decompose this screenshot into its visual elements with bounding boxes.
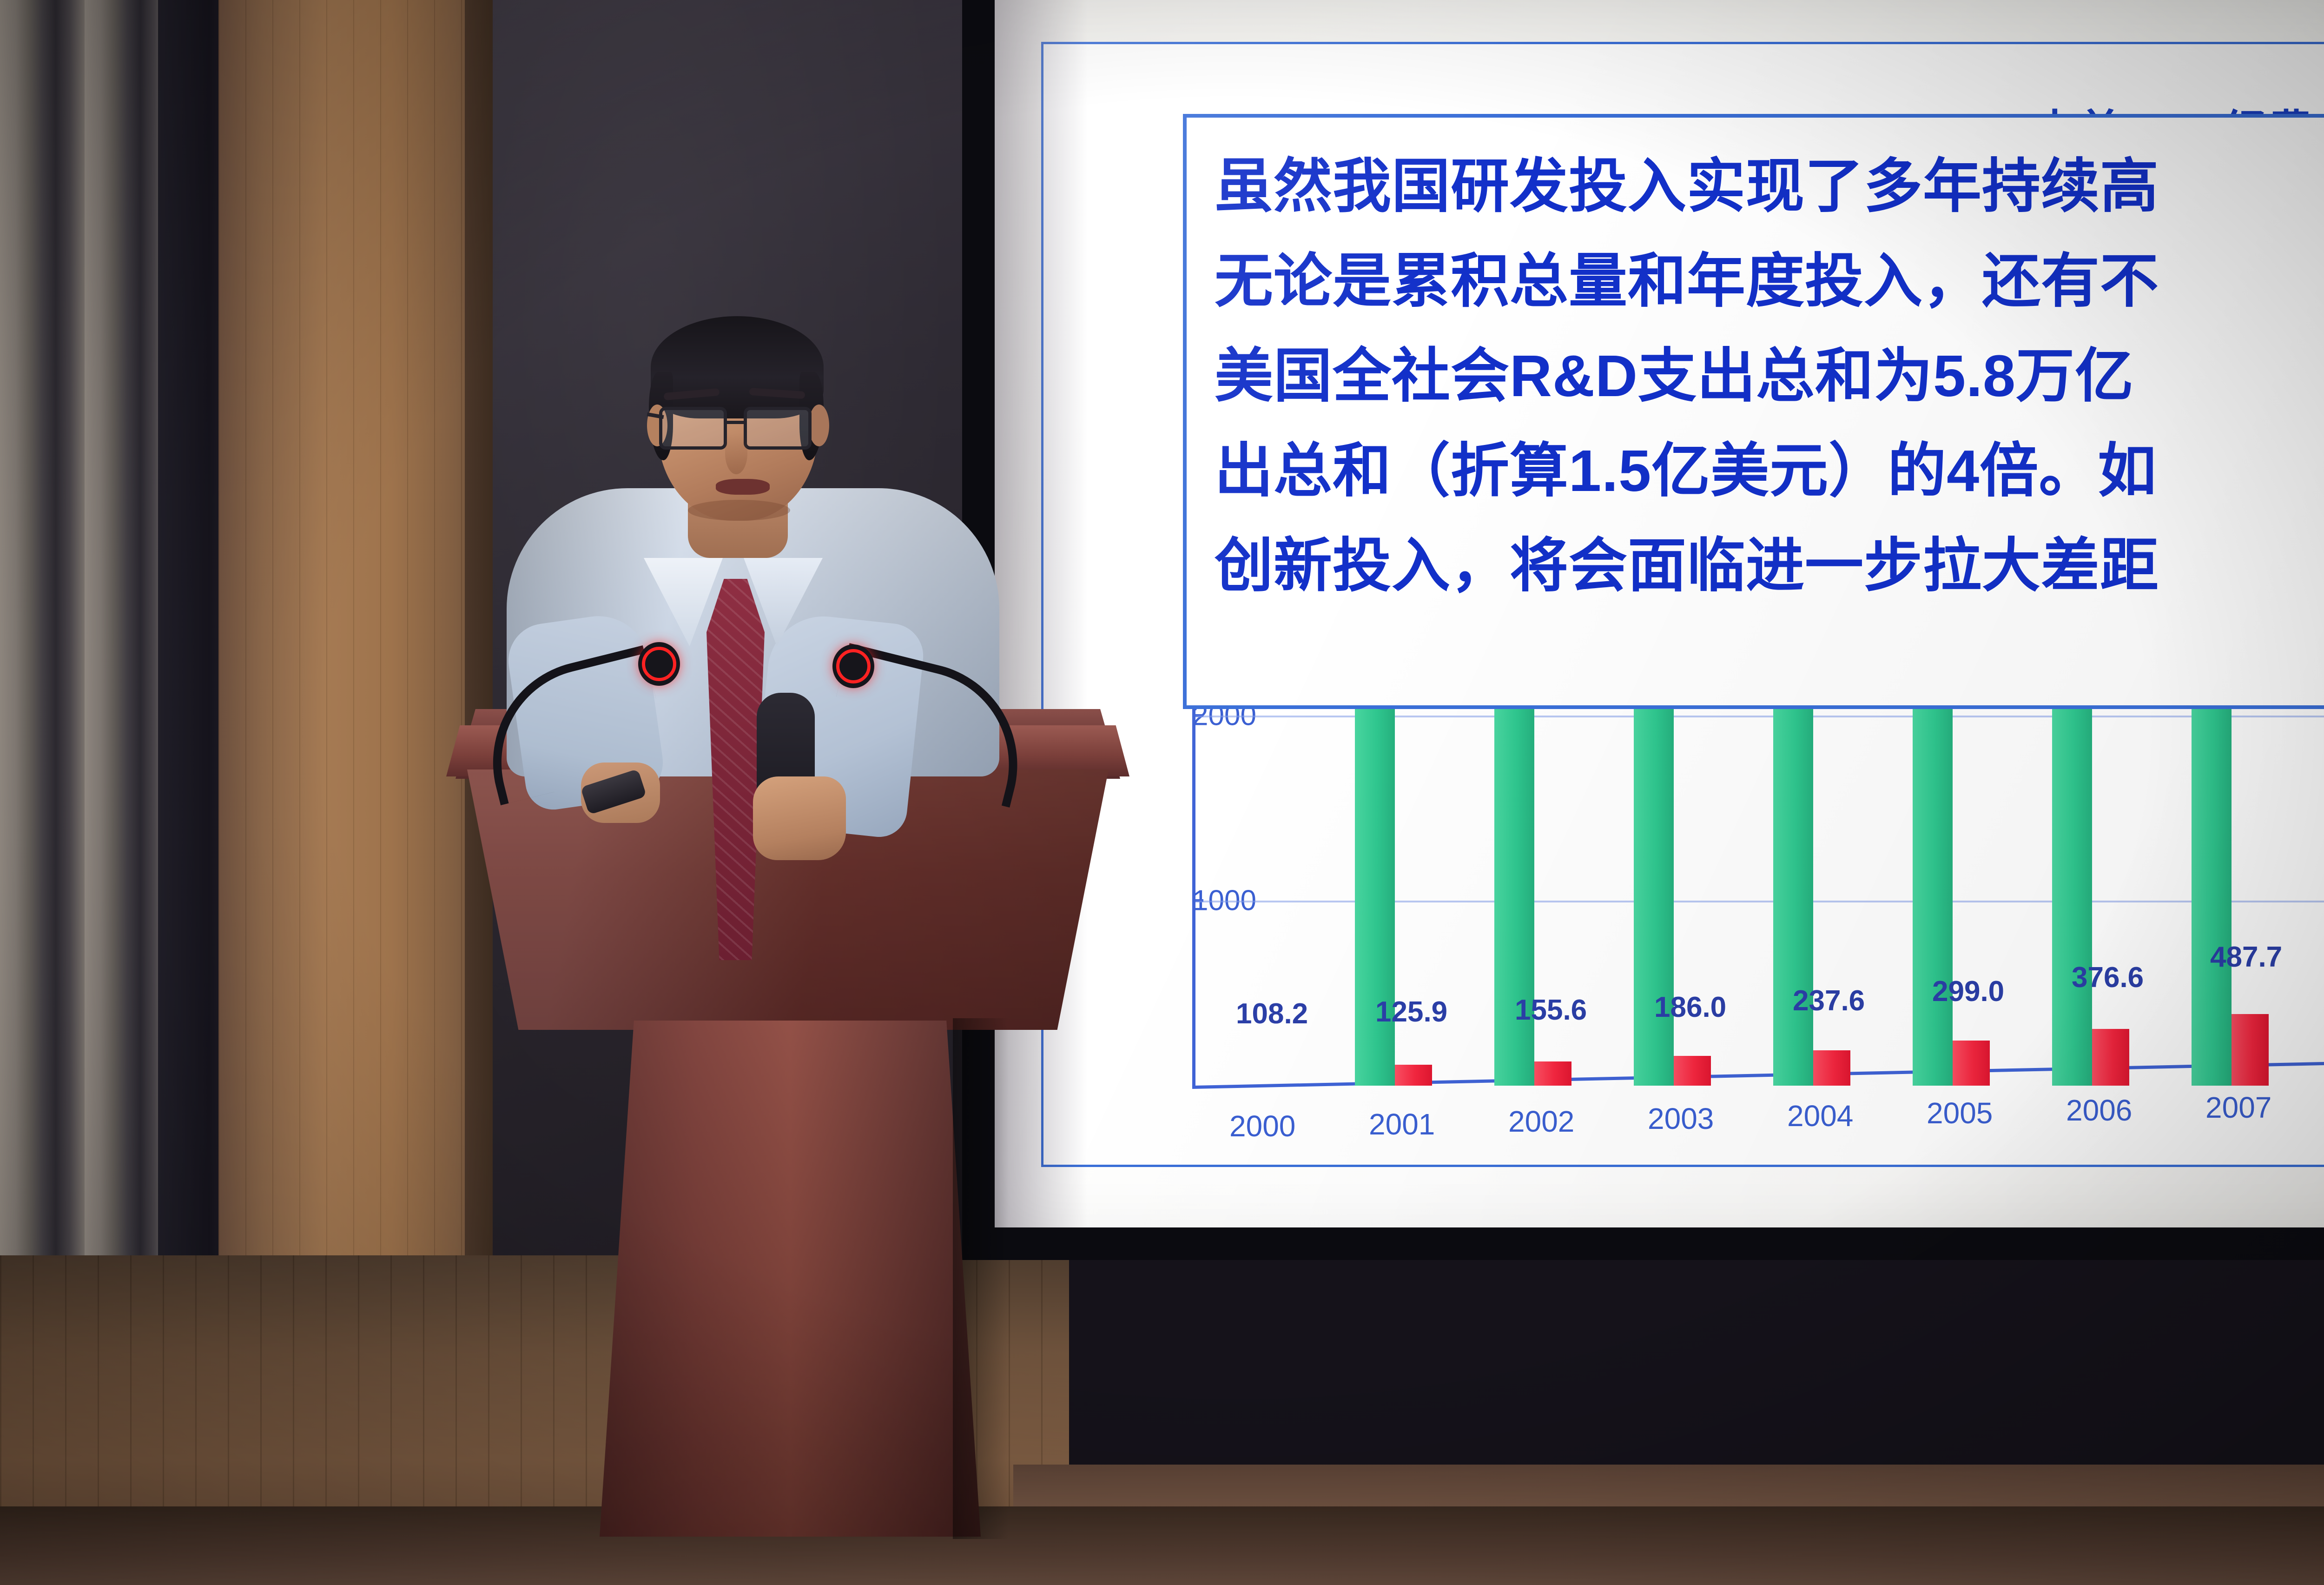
slide-text-callout: 虽然我国研发投入实现了多年持续高 无论是累积总量和年度投入，还有不 美国全社会R…: [1183, 114, 2324, 709]
podium-column: [600, 1021, 981, 1537]
callout-line-1: 虽然我国研发投入实现了多年持续高: [1215, 139, 2324, 234]
powerpoint-slide: 中美R&D经费支出 5000 4000 3000 2000 1000: [1041, 42, 2324, 1167]
microphone-icon-left: [642, 646, 676, 682]
speaker-hair: [651, 316, 824, 418]
stage-floor: [0, 1506, 2324, 1585]
callout-line-5: 创新投入，将会面临进一步拉大差距: [1215, 518, 2324, 613]
x-label-2002: 2002: [1508, 1104, 1574, 1139]
data-label-2006: 376.6: [2072, 961, 2144, 1167]
x-label-2001: 2001: [1369, 1107, 1435, 1141]
x-label-2000: 2000: [1229, 1109, 1295, 1143]
microphone-icon-right: [837, 649, 870, 684]
slide-progress-marker: [1098, 1166, 1114, 1167]
x-label-2006: 2006: [2066, 1093, 2132, 1127]
podium-shadow: [953, 1018, 1009, 1539]
data-label-2007: 487.7: [2210, 941, 2282, 1167]
x-label-2005: 2005: [1927, 1096, 1993, 1130]
speaker-right-hand: [753, 776, 846, 860]
projection-screen: 中美R&D经费支出 5000 4000 3000 2000 1000: [995, 0, 2324, 1227]
data-label-2003: 186.0: [1654, 991, 1726, 1167]
x-label-2004: 2004: [1787, 1099, 1853, 1133]
callout-line-4: 出总和（折算1.5亿美元）的4倍。如: [1215, 424, 2324, 518]
speaker-mouth: [716, 479, 770, 495]
x-label-2007: 2007: [2205, 1090, 2271, 1125]
x-label-2003: 2003: [1648, 1101, 1714, 1136]
callout-line-2: 无论是累积总量和年度投入，还有不: [1215, 234, 2324, 329]
data-label-2004: 237.6: [1793, 984, 1865, 1167]
callout-line-3: 美国全社会R&D支出总和为5.8万亿: [1215, 329, 2324, 424]
eyeglasses-right-lens: [744, 407, 812, 450]
data-label-2002: 155.6: [1515, 994, 1587, 1167]
presentation-photo: 中美R&D经费支出 5000 4000 3000 2000 1000: [0, 0, 2324, 1585]
speaker-nose: [725, 432, 747, 474]
speaker-chin-shadow: [688, 500, 790, 521]
data-label-2005: 299.0: [1932, 975, 2004, 1167]
speaker-right-ear: [809, 405, 829, 446]
eyeglasses-left-lens: [659, 407, 727, 450]
eyeglasses-bridge: [727, 421, 744, 424]
